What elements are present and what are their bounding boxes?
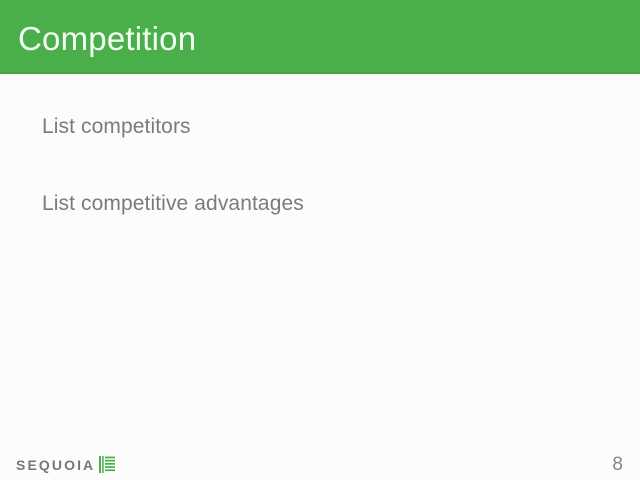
- page-number: 8: [612, 454, 623, 476]
- bullet-list: List competitors List competitive advant…: [42, 114, 602, 217]
- brand-wordmark: SEQUOIA: [16, 457, 95, 473]
- presentation-slide: Competition List competitors List compet…: [0, 0, 640, 480]
- slide-body: List competitors List competitive advant…: [0, 74, 640, 434]
- sequoia-leaf-icon: [99, 456, 115, 473]
- slide-header-band: Competition: [0, 0, 640, 74]
- slide-footer: SEQUOIA 8: [0, 434, 640, 480]
- list-item: List competitive advantages: [42, 191, 602, 217]
- brand-logo: SEQUOIA: [16, 456, 115, 473]
- list-item: List competitors: [42, 114, 602, 140]
- page-title: Competition: [18, 19, 196, 59]
